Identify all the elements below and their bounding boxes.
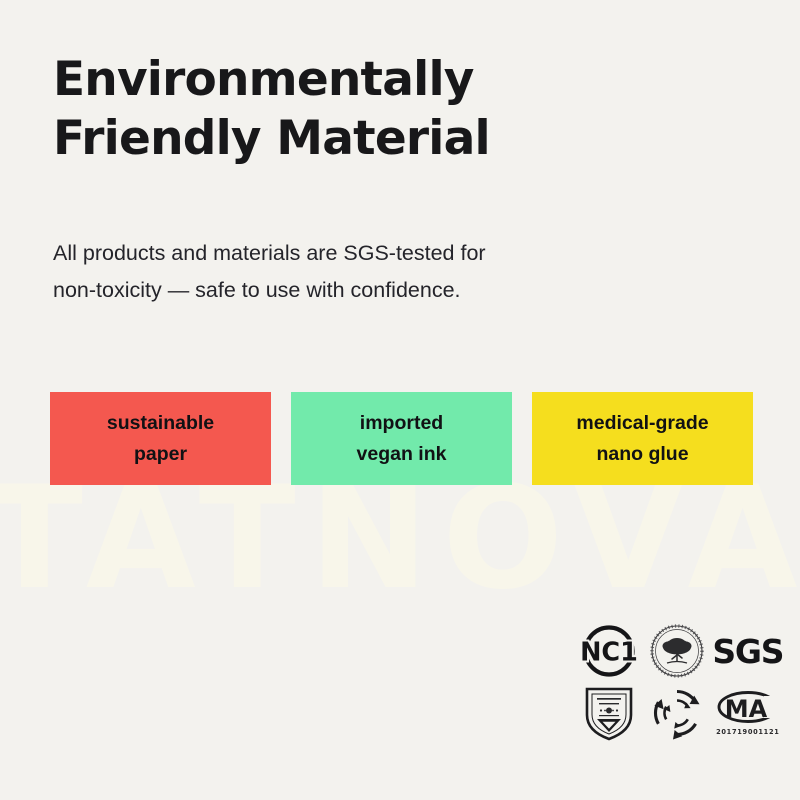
recycling-arrows-icon [646, 682, 708, 744]
chip-label-line-1: medical-grade [576, 408, 708, 438]
chip-label-line-1: imported [360, 408, 443, 438]
sgs-wordmark-icon: SGS [715, 620, 777, 682]
chip-label-line-2: paper [134, 439, 187, 469]
shield-certification-icon [578, 682, 640, 744]
cma-certificate-number: 201719001121 [716, 728, 779, 736]
chip-sustainable-paper: sustainable paper [50, 392, 271, 485]
tree-seal-certification-icon [646, 620, 708, 682]
chip-imported-vegan-ink: imported vegan ink [291, 392, 512, 485]
chip-medical-grade-nano-glue: medical-grade nano glue [532, 392, 753, 485]
cma-certification-icon: MA 201719001121 [715, 682, 777, 744]
page-title-line-1: Environmentally [53, 52, 474, 107]
brand-watermark: TATNOVA [0, 468, 800, 610]
page-title: Environmentally Friendly Material [53, 50, 733, 168]
svg-text:NC1: NC1 [580, 638, 638, 668]
certification-badge-grid: NC1 [575, 620, 780, 744]
poster-canvas: TATNOVA Environmentally Friendly Materia… [0, 0, 800, 800]
chip-label-line-1: sustainable [107, 408, 214, 438]
nc1-certification-icon: NC1 [578, 620, 640, 682]
sgs-wordmark-label: SGS [712, 635, 783, 668]
page-subtitle-line-1: All products and materials are SGS-teste… [53, 241, 486, 265]
page-subtitle-line-2: non-toxicity — safe to use with confiden… [53, 272, 653, 309]
material-chip-group: sustainable paper imported vegan ink med… [50, 392, 753, 485]
chip-label-line-2: vegan ink [357, 439, 447, 469]
svg-text:MA: MA [725, 695, 768, 723]
page-title-line-2: Friendly Material [53, 109, 733, 168]
page-subtitle: All products and materials are SGS-teste… [53, 235, 653, 309]
chip-label-line-2: nano glue [596, 439, 688, 469]
